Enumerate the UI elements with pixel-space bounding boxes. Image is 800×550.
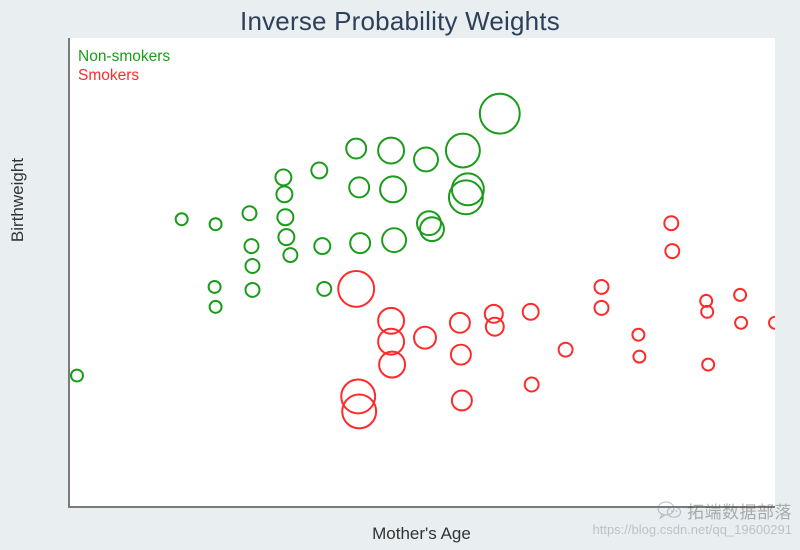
data-point <box>414 148 438 172</box>
data-point <box>278 229 294 245</box>
data-point <box>451 345 471 365</box>
data-point <box>311 162 327 178</box>
data-point <box>176 213 188 225</box>
data-point <box>283 248 297 262</box>
data-point <box>350 233 370 253</box>
data-point <box>664 216 678 230</box>
data-point <box>245 239 259 253</box>
page-title: Inverse Probability Weights <box>0 6 800 37</box>
data-point <box>559 343 573 357</box>
data-point <box>702 359 714 371</box>
legend-item-non-smokers: Non-smokers <box>78 47 170 66</box>
data-point <box>665 244 679 258</box>
data-point <box>486 318 504 336</box>
data-point <box>342 394 376 428</box>
data-point <box>246 259 260 273</box>
data-point <box>632 329 644 341</box>
data-point <box>452 173 484 205</box>
data-point <box>382 228 406 252</box>
data-point <box>595 280 609 294</box>
data-point <box>595 301 609 315</box>
data-point <box>314 238 330 254</box>
data-point <box>735 317 747 329</box>
data-point <box>209 281 221 293</box>
data-point <box>378 138 404 164</box>
data-point <box>210 218 222 230</box>
data-point <box>378 308 404 334</box>
data-point <box>277 209 293 225</box>
data-point <box>346 139 366 159</box>
data-point <box>243 206 257 220</box>
data-point <box>338 271 374 307</box>
data-point <box>452 390 472 410</box>
data-point <box>525 378 539 392</box>
data-point <box>276 186 292 202</box>
data-point <box>734 289 746 301</box>
legend-item-smokers: Smokers <box>78 66 170 85</box>
data-point <box>246 283 260 297</box>
scatter-plot-canvas <box>70 38 775 506</box>
data-point <box>71 370 83 382</box>
plot-area: Non-smokers Smokers <box>68 38 775 508</box>
data-point <box>275 169 291 185</box>
data-point <box>317 282 331 296</box>
series-non-smokers <box>71 94 520 382</box>
data-point <box>450 313 470 333</box>
x-axis-label: Mother's Age <box>68 524 775 544</box>
data-point <box>523 304 539 320</box>
data-point <box>341 380 375 414</box>
data-point <box>210 301 222 313</box>
data-point <box>633 351 645 363</box>
chart-figure: Inverse Probability Weights Non-smokers … <box>0 0 800 550</box>
data-point <box>480 94 520 134</box>
data-point <box>349 177 369 197</box>
data-point <box>769 317 775 329</box>
chart-legend: Non-smokers Smokers <box>78 47 170 86</box>
data-point <box>380 176 406 202</box>
data-point <box>446 134 480 168</box>
data-point <box>414 327 436 349</box>
y-axis-label: Birthweight <box>8 0 28 400</box>
